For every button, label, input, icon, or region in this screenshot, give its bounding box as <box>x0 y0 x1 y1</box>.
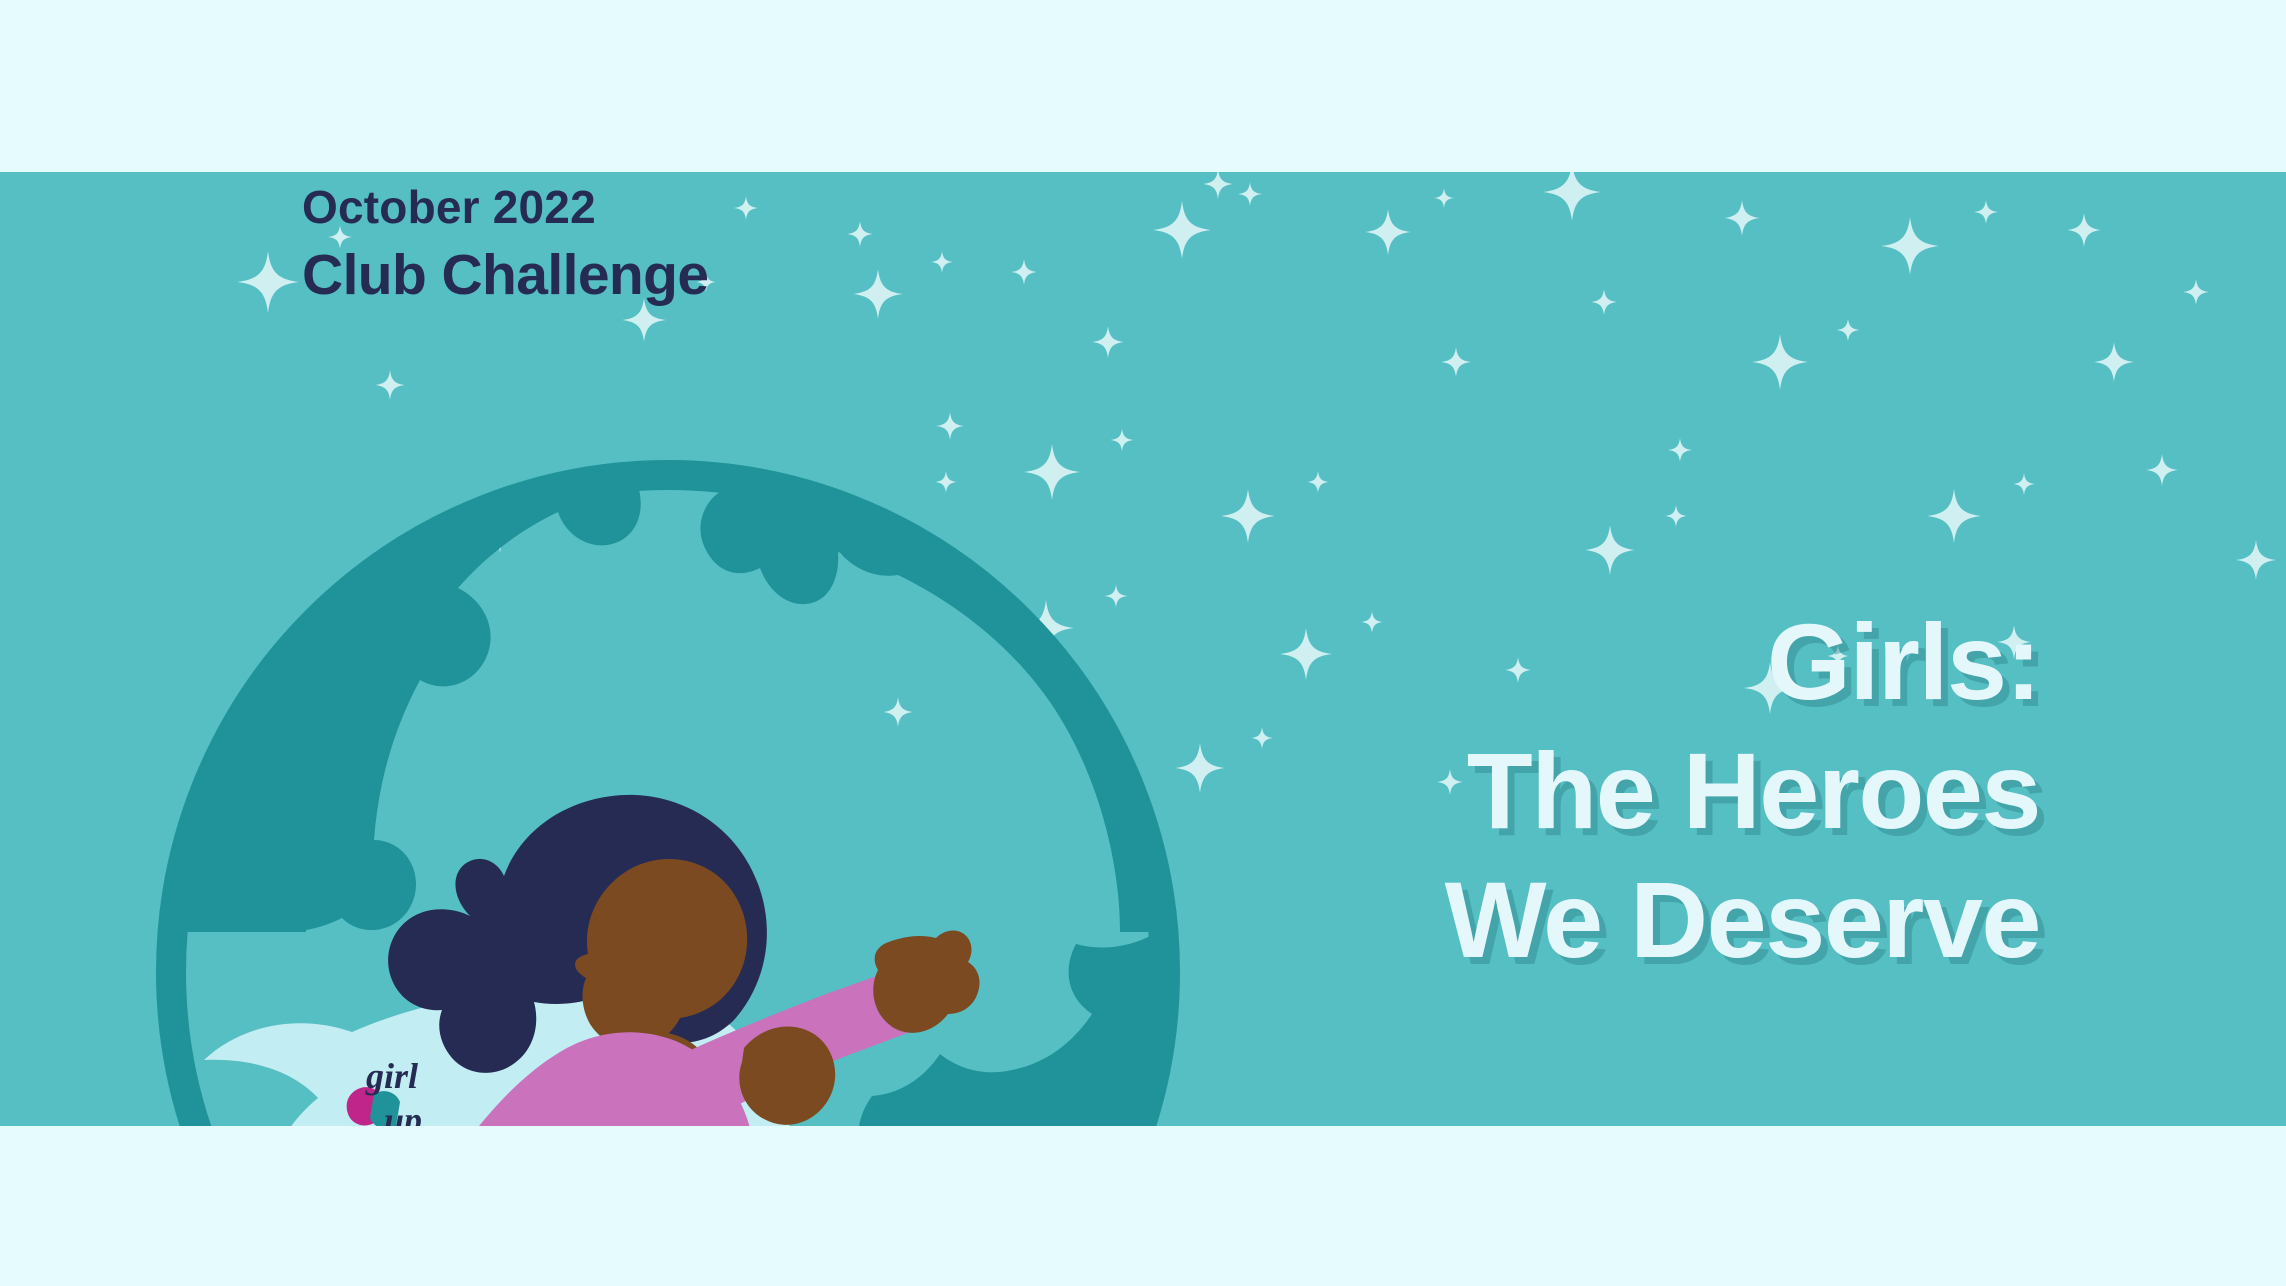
page-root: girl up October 2022 Club Challenge Girl… <box>0 0 2286 1286</box>
page-title: Club Challenge <box>302 243 708 309</box>
banner-header-text: October 2022 Club Challenge <box>302 182 708 308</box>
banner-headline: Girls: The Heroes We Deserve <box>1445 602 2040 981</box>
headline-line-1: Girls: <box>1445 602 2040 723</box>
headline-line-2: The Heroes <box>1445 731 2040 852</box>
logo-word-girl: girl <box>365 1056 418 1096</box>
headline-line-3: We Deserve <box>1445 860 2040 981</box>
club-challenge-banner: girl up October 2022 Club Challenge Girl… <box>0 172 2286 1126</box>
banner-eyebrow-date: October 2022 <box>302 182 708 233</box>
logo-word-up: up <box>384 1100 422 1126</box>
